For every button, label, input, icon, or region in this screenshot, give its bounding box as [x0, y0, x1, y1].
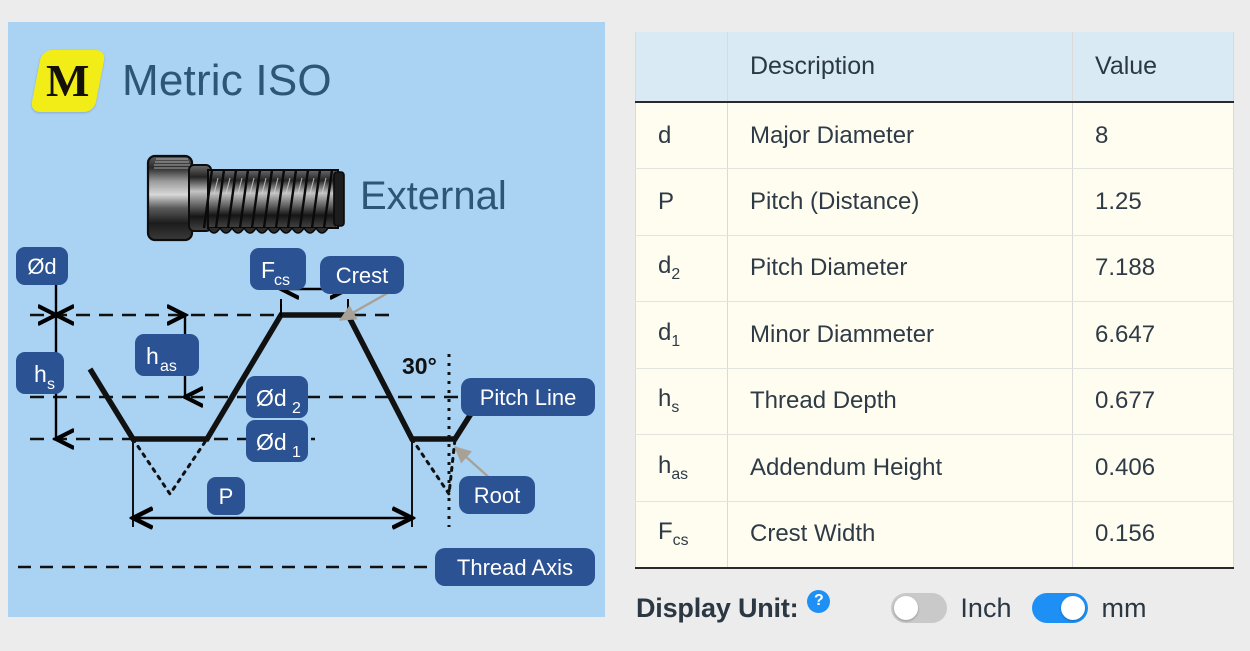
symbol-subscript: 2 [671, 266, 680, 283]
cell-description: Major Diameter [728, 102, 1073, 169]
cell-value: 0.406 [1073, 435, 1234, 502]
cell-symbol: d [636, 102, 728, 169]
display-unit-label: Display Unit: [636, 593, 798, 624]
svg-text:P: P [219, 484, 234, 509]
mm-unit-label: mm [1101, 593, 1146, 624]
callout-root: Root [459, 476, 535, 514]
symbol-subscript: s [671, 399, 679, 416]
table-row: d2Pitch Diameter7.188 [636, 235, 1234, 302]
cell-symbol: d2 [636, 235, 728, 302]
cell-value: 0.677 [1073, 368, 1234, 435]
callout-crest: Crest [320, 256, 404, 294]
svg-text:Root: Root [474, 483, 520, 508]
table-header-row: Description Value [636, 32, 1234, 102]
table-row: FcsCrest Width0.156 [636, 501, 1234, 568]
cell-description: Addendum Height [728, 435, 1073, 502]
cell-value: 7.188 [1073, 235, 1234, 302]
svg-text:1: 1 [292, 444, 301, 461]
svg-text:h: h [34, 361, 47, 387]
callout-minor-diameter: Ød 1 [246, 420, 308, 462]
cell-symbol: d1 [636, 302, 728, 369]
symbol-subscript: 1 [671, 333, 680, 350]
svg-text:as: as [160, 358, 177, 375]
callout-thread-depth: h s [16, 352, 64, 394]
callout-pitch-diameter: Ød 2 [246, 376, 308, 418]
header-value: Value [1073, 32, 1234, 102]
callout-thread-axis: Thread Axis [435, 548, 595, 586]
table-row: hasAddendum Height0.406 [636, 435, 1234, 502]
symbol-subscript: as [671, 466, 688, 483]
standard-title: Metric ISO [122, 56, 332, 106]
svg-text:2: 2 [292, 400, 301, 417]
cell-value: 1.25 [1073, 169, 1234, 236]
svg-text:cs: cs [274, 272, 290, 289]
svg-text:Ød: Ød [27, 254, 56, 279]
cell-value: 0.156 [1073, 501, 1234, 568]
metric-badge-icon: M [30, 50, 106, 112]
callout-pitch-line: Pitch Line [461, 378, 595, 416]
display-unit-row: Display Unit: ? Inch mm [636, 585, 1146, 631]
inch-unit-label: Inch [960, 593, 1011, 624]
svg-text:Ød: Ød [256, 385, 287, 411]
bolt-illustration [142, 148, 358, 246]
cell-symbol: Fcs [636, 501, 728, 568]
cell-description: Crest Width [728, 501, 1073, 568]
svg-text:F: F [261, 257, 275, 283]
cell-value: 8 [1073, 102, 1234, 169]
callout-major-diameter: Ød [16, 247, 68, 285]
inch-toggle-knob [894, 596, 918, 620]
symbol-subscript: cs [673, 532, 689, 549]
svg-text:s: s [47, 376, 55, 393]
table-row: hsThread Depth0.677 [636, 368, 1234, 435]
thread-spec-page: M Metric ISO [0, 0, 1250, 651]
table-row: dMajor Diameter8 [636, 102, 1234, 169]
table-row: PPitch (Distance)1.25 [636, 169, 1234, 236]
standard-logo-row: M Metric ISO [36, 50, 332, 112]
cell-symbol: has [636, 435, 728, 502]
cell-description: Minor Diammeter [728, 302, 1073, 369]
table-row: d1Minor Diammeter6.647 [636, 302, 1234, 369]
inch-unit-toggle[interactable] [891, 593, 947, 623]
cell-symbol: P [636, 169, 728, 236]
cell-symbol: hs [636, 368, 728, 435]
thread-angle-label: 30° [402, 353, 437, 379]
mm-unit-toggle[interactable] [1032, 593, 1088, 623]
thread-spec-table-wrap: Description Value dMajor Diameter8PPitch… [635, 32, 1233, 569]
header-description: Description [728, 32, 1073, 102]
thread-type-label: External [360, 174, 507, 219]
callout-crest-width: F cs [250, 248, 306, 290]
svg-text:Pitch Line: Pitch Line [480, 385, 577, 410]
cell-description: Thread Depth [728, 368, 1073, 435]
cell-value: 6.647 [1073, 302, 1234, 369]
svg-text:Crest: Crest [336, 263, 389, 288]
svg-text:h: h [146, 343, 159, 369]
cell-description: Pitch (Distance) [728, 169, 1073, 236]
svg-text:Thread Axis: Thread Axis [457, 555, 573, 580]
cell-description: Pitch Diameter [728, 235, 1073, 302]
header-symbol [636, 32, 728, 102]
metric-badge-letter: M [46, 58, 89, 104]
question-mark-icon[interactable]: ? [807, 590, 830, 613]
svg-text:Ød: Ød [256, 429, 287, 455]
thread-spec-table: Description Value dMajor Diameter8PPitch… [635, 32, 1234, 569]
callout-addendum-height: h as [135, 334, 199, 376]
mm-toggle-knob [1061, 596, 1085, 620]
callout-pitch: P [207, 477, 245, 515]
thread-profile-drawing: Ød h s h as F cs Crest Ød 2 [0, 242, 620, 597]
